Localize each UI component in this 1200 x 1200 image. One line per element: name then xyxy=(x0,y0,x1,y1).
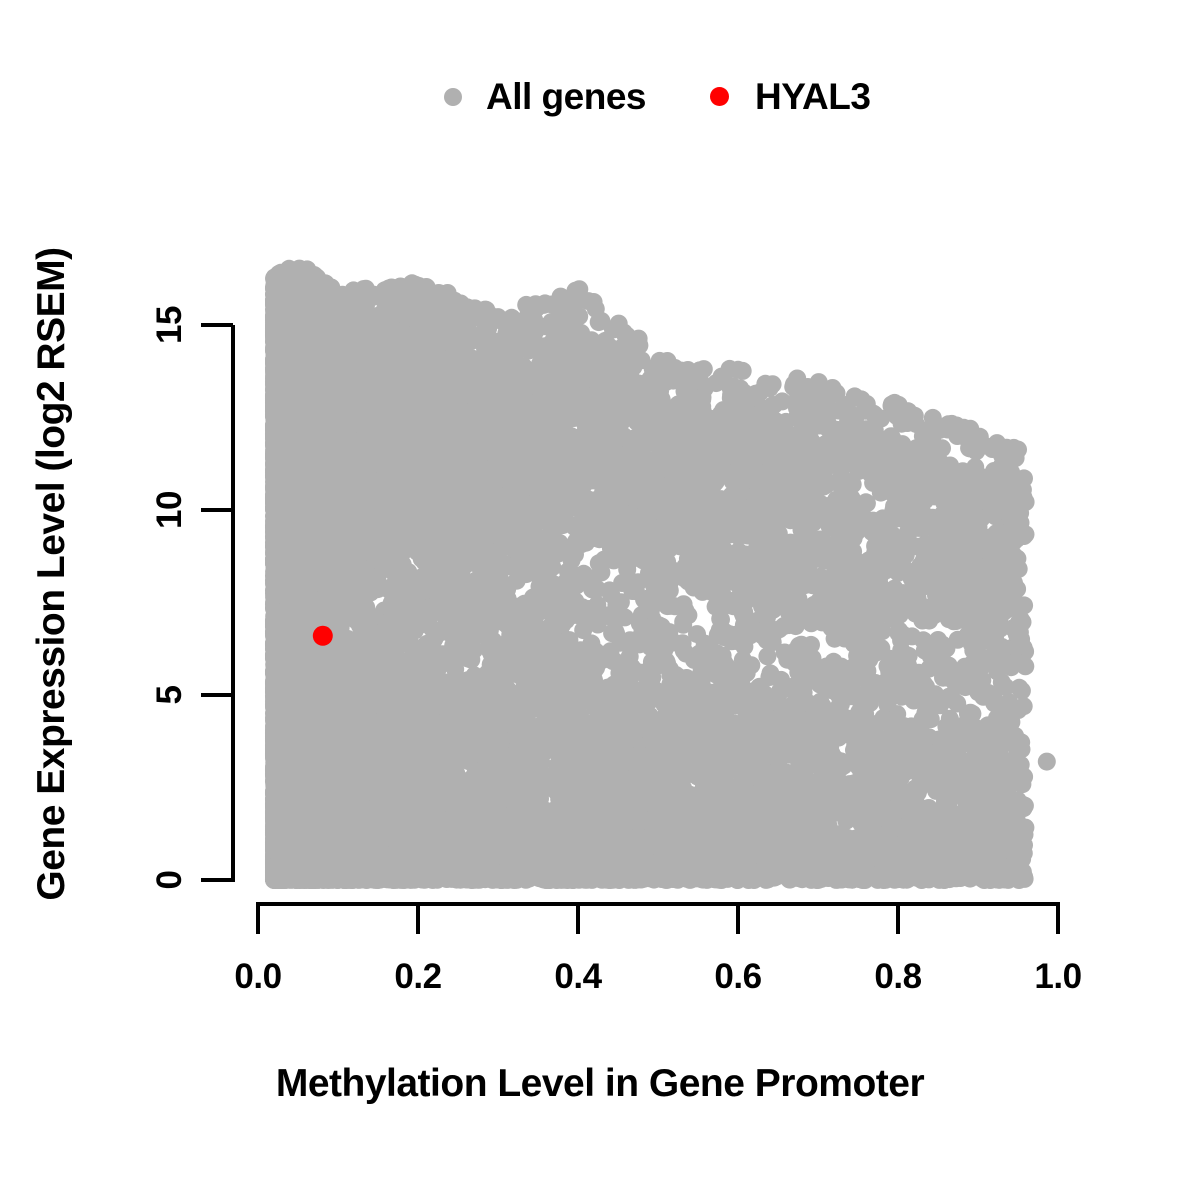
x-tick-0.0 xyxy=(256,902,260,934)
y-tick-15 xyxy=(201,323,233,327)
y-axis-title-wrapper: Gene Expression Level (log2 RSEM) xyxy=(26,124,78,1024)
y-tick-label-5: 5 xyxy=(150,665,190,725)
plot-area xyxy=(0,0,1200,1200)
y-tick-label-15: 15 xyxy=(150,295,190,355)
y-tick-0 xyxy=(201,878,233,882)
x-tick-0.8 xyxy=(896,902,900,934)
scatter-canvas xyxy=(0,0,1200,1200)
y-tick-label-0: 0 xyxy=(150,850,190,910)
y-axis-line xyxy=(231,325,235,882)
data-point-hyal3 xyxy=(313,626,333,646)
x-tick-0.4 xyxy=(576,902,580,934)
x-tick-label-0.2: 0.2 xyxy=(358,957,478,997)
series-all-genes xyxy=(265,260,1056,889)
scatter-plot-figure: All genes HYAL3 051015 0.00.20.40.60.81.… xyxy=(0,0,1200,1200)
data-point-outlier xyxy=(1038,753,1056,771)
x-axis-line xyxy=(258,902,1060,906)
y-tick-10 xyxy=(201,508,233,512)
x-tick-label-0.8: 0.8 xyxy=(838,957,958,997)
x-tick-0.2 xyxy=(416,902,420,934)
y-axis-title: Gene Expression Level (log2 RSEM) xyxy=(26,124,78,1024)
x-tick-label-0.0: 0.0 xyxy=(198,957,318,997)
x-axis-title: Methylation Level in Gene Promoter xyxy=(0,1062,1200,1106)
x-tick-label-0.6: 0.6 xyxy=(678,957,798,997)
series-hyal3 xyxy=(313,626,333,646)
x-tick-label-0.4: 0.4 xyxy=(518,957,638,997)
y-tick-5 xyxy=(201,693,233,697)
x-tick-0.6 xyxy=(736,902,740,934)
x-tick-1.0 xyxy=(1056,902,1060,934)
x-tick-label-1.0: 1.0 xyxy=(998,957,1118,997)
y-tick-label-10: 10 xyxy=(150,480,190,540)
